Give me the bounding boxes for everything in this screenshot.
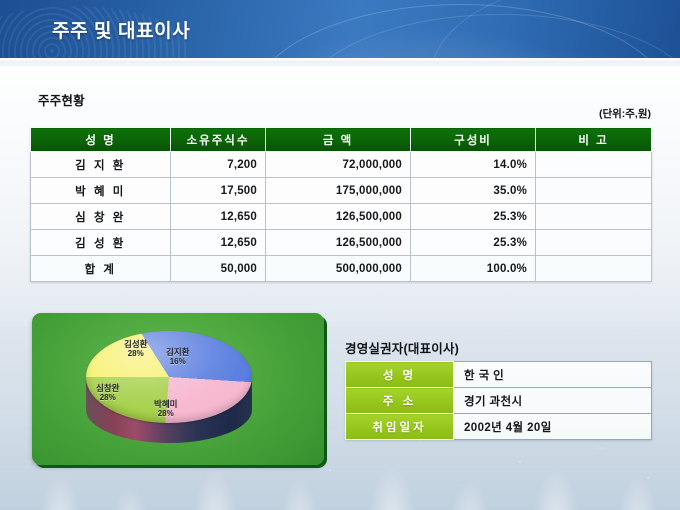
- ceo-value-address: 경기 과천시: [454, 388, 652, 414]
- table-row: 박 혜 미 17,500 175,000,000 35.0%: [31, 178, 652, 204]
- table-header-row: 성 명 소유주식수 금 액 구성비 비 고: [31, 128, 652, 152]
- pie-label-percent: 28%: [124, 349, 147, 359]
- header-banner: 주주 및 대표이사: [0, 0, 680, 58]
- pie-label-kimjihwan: 김지환 16%: [166, 347, 189, 367]
- cell-total-label: 합 계: [31, 256, 171, 282]
- pie-label-name: 김성환: [124, 339, 147, 349]
- cell-shares: 7,200: [171, 152, 266, 178]
- cell-ratio: 25.3%: [411, 230, 536, 256]
- slide-title: 주주 및 대표이사: [52, 16, 190, 43]
- table-row: 김 지 환 7,200 72,000,000 14.0%: [31, 152, 652, 178]
- cell-total-ratio: 100.0%: [411, 256, 536, 282]
- cell-amount: 126,500,000: [266, 204, 411, 230]
- unit-note: (단위:주,원): [599, 106, 651, 121]
- ceo-label-address: 주 소: [346, 388, 454, 414]
- ceo-table: 성 명 한 국 인 주 소 경기 과천시 취임일자 2002년 4월 20일: [345, 361, 652, 440]
- pie-label-kimseonghwan: 김성환 28%: [124, 339, 147, 359]
- pie-label-percent: 28%: [96, 393, 119, 403]
- cell-ratio: 14.0%: [411, 152, 536, 178]
- table-row: 주 소 경기 과천시: [346, 388, 652, 414]
- ceo-label-name: 성 명: [346, 362, 454, 388]
- cell-name: 심 창 완: [31, 204, 171, 230]
- cell-shares: 12,650: [171, 230, 266, 256]
- cell-amount: 175,000,000: [266, 178, 411, 204]
- table-total-row: 합 계 50,000 500,000,000 100.0%: [31, 256, 652, 282]
- pie-label-percent: 16%: [166, 357, 189, 367]
- pie-label-name: 박혜미: [154, 399, 177, 409]
- cell-total-note: [536, 256, 652, 282]
- cell-note: [536, 204, 652, 230]
- col-header-shares: 소유주식수: [171, 128, 266, 152]
- col-header-ratio: 구성비: [411, 128, 536, 152]
- table-row: 김 성 환 12,650 126,500,000 25.3%: [31, 230, 652, 256]
- section-title-shareholders: 주주현황: [38, 90, 85, 109]
- cell-note: [536, 230, 652, 256]
- table-row: 취임일자 2002년 4월 20일: [346, 414, 652, 440]
- cell-shares: 17,500: [171, 178, 266, 204]
- banner-underline: [0, 58, 680, 63]
- cell-name: 김 지 환: [31, 152, 171, 178]
- pie-label-parkhyemi: 박혜미 28%: [154, 399, 177, 419]
- slide-canvas: 주주 및 대표이사 주주현황 (단위:주,원) 성 명 소유주식수 금 액 구성…: [0, 0, 680, 510]
- pie-label-name: 김지환: [166, 347, 189, 357]
- ceo-value-name: 한 국 인: [454, 362, 652, 388]
- col-header-amount: 금 액: [266, 128, 411, 152]
- cell-note: [536, 152, 652, 178]
- cell-shares: 12,650: [171, 204, 266, 230]
- cell-name: 박 혜 미: [31, 178, 171, 204]
- pie-chart: 김성환 28% 김지환 16% 심창완 28% 박혜미 28%: [80, 317, 262, 465]
- pie-label-name: 심창완: [96, 383, 119, 393]
- pie-label-simchangwan: 심창완 28%: [96, 383, 119, 403]
- cell-name: 김 성 환: [31, 230, 171, 256]
- col-header-note: 비 고: [536, 128, 652, 152]
- pie-label-percent: 28%: [154, 409, 177, 419]
- cell-note: [536, 178, 652, 204]
- cell-ratio: 35.0%: [411, 178, 536, 204]
- col-header-name: 성 명: [31, 128, 171, 152]
- shareholders-table: 성 명 소유주식수 금 액 구성비 비 고 김 지 환 7,200 72,000…: [30, 127, 652, 282]
- ceo-value-appointment-date: 2002년 4월 20일: [454, 414, 652, 440]
- ceo-label-appointment-date: 취임일자: [346, 414, 454, 440]
- cell-ratio: 25.3%: [411, 204, 536, 230]
- section-title-ceo: 경영실권자(대표이사): [345, 338, 459, 357]
- cell-total-amount: 500,000,000: [266, 256, 411, 282]
- table-row: 심 창 완 12,650 126,500,000 25.3%: [31, 204, 652, 230]
- pie-chart-panel: 김성환 28% 김지환 16% 심창완 28% 박혜미 28%: [32, 313, 324, 465]
- table-row: 성 명 한 국 인: [346, 362, 652, 388]
- cell-total-shares: 50,000: [171, 256, 266, 282]
- cell-amount: 72,000,000: [266, 152, 411, 178]
- cell-amount: 126,500,000: [266, 230, 411, 256]
